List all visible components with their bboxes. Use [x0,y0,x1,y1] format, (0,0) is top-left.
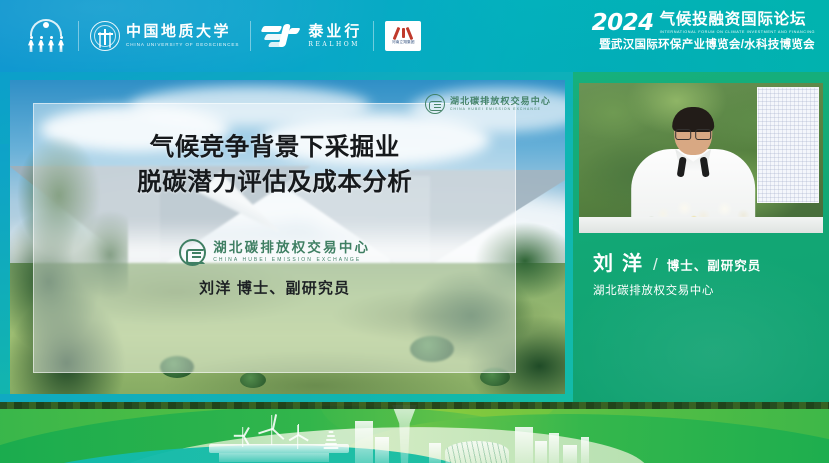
hubei-emission-exchange-icon [179,239,206,266]
slide-watermark-logo: 湖北碳排放权交易中心 CHINA HUBEI EMISSION EXCHANGE [425,94,551,114]
forum-subtitle-cn: 暨武汉国际环保产业博览会/水科技博览会 [599,40,815,52]
landmark-tower [383,405,427,463]
slide-title-panel: 气候竞争背景下采掘业 脱碳潜力评估及成本分析 湖北碳排放权交易中心 CHINA … [33,103,516,373]
building [549,433,559,463]
forum-title-block: 2024 气候投融资国际论坛 INTERNATIONAL FORUM ON CL… [592,12,815,52]
building [563,445,577,463]
wind-turbine-icon [233,427,253,447]
speaker-info: 刘洋 / 博士、副研究员 湖北碳排放权交易中心 [593,247,761,298]
realhom-mark-icon [262,23,300,49]
stage-area: 湖北碳排放权交易中心 CHINA HUBEI EMISSION EXCHANGE… [0,72,829,402]
building [515,427,533,463]
logo-sponsor-card: 河南立翔集团 [374,14,432,58]
realhom-name-cn: 泰业行 [308,24,362,39]
slide-organization-logo: 湖北碳排放权交易中心 CHINA HUBEI EMISSION EXCHANGE [179,239,370,266]
stage-led-screen [757,87,819,203]
decorative-footer-banner [0,402,829,463]
slide-title-line-2: 脱碳潜力评估及成本分析 [137,166,412,201]
video-backdrop [579,83,823,233]
university-seal-icon [90,21,120,51]
hubei-emission-exchange-icon [425,94,445,114]
logo-china-university-of-geosciences: 中国地质大学 CHINA UNIVERSITY OF GEOSCIENCES [79,14,250,58]
speaker-organization: 湖北碳排放权交易中心 [593,282,761,298]
building [581,437,589,463]
building [355,421,373,463]
building [375,437,389,463]
w-mark-icon [392,27,414,39]
building [535,441,547,463]
forum-title-en: INTERNATIONAL FORUM ON CLIMATE INVESTMEN… [660,31,815,35]
event-header: 中国地质大学 CHINA UNIVERSITY OF GEOSCIENCES 泰… [0,0,829,72]
microphone-icon [678,157,708,183]
speaker-panel: 刘洋 / 博士、副研究员 湖北碳排放权交易中心 [573,72,829,402]
wind-turbine-icon [287,425,309,449]
slide-presenter: 刘洋 博士、副研究员 [199,277,350,298]
sponsor-logo-strip: 中国地质大学 CHINA UNIVERSITY OF GEOSCIENCES 泰… [14,14,432,58]
speaker-figure [628,109,758,233]
city-skyline-icon [215,405,615,463]
broadcast-frame: 中国地质大学 CHINA UNIVERSITY OF GEOSCIENCES 泰… [0,0,829,463]
frame-strip-bottom [0,394,573,402]
podium [579,217,823,233]
pagoda-icon [323,429,339,449]
logo-organizer-emblem [14,14,78,58]
forum-title-cn: 气候投融资国际论坛 [660,12,815,28]
sponsor-card-label: 河南立翔集团 [392,40,415,45]
realhom-name-en: REALHOM [308,42,362,48]
speaker-separator: / [653,255,658,275]
building [429,443,441,463]
cug-name-en: CHINA UNIVERSITY OF GEOSCIENCES [126,43,239,48]
flower-arrangement [642,197,760,233]
wind-turbine-icon [257,415,287,445]
watermark-org-cn: 湖北碳排放权交易中心 [450,97,551,106]
dome-icon [445,441,509,463]
glasses-icon [675,129,711,139]
slide-title-line-1: 气候竞争背景下采掘业 [150,131,400,166]
speaker-name: 刘洋 [593,247,651,276]
watermark-org-en: CHINA HUBEI EMISSION EXCHANGE [450,108,551,111]
frame-strip-left [0,144,9,402]
cug-name-cn: 中国地质大学 [126,24,239,39]
slide-org-cn: 湖北碳排放权交易中心 [213,241,370,255]
slide-org-en: CHINA HUBEI EMISSION EXCHANGE [213,258,370,263]
forum-year: 2024 [592,12,654,35]
people-emblem-icon [25,18,67,54]
presentation-slide: 湖北碳排放权交易中心 CHINA HUBEI EMISSION EXCHANGE… [10,80,565,396]
logo-realhom: 泰业行 REALHOM [251,14,373,58]
speaker-video-feed [579,83,823,233]
speaker-role: 博士、副研究员 [667,255,762,274]
treeline [0,402,829,409]
